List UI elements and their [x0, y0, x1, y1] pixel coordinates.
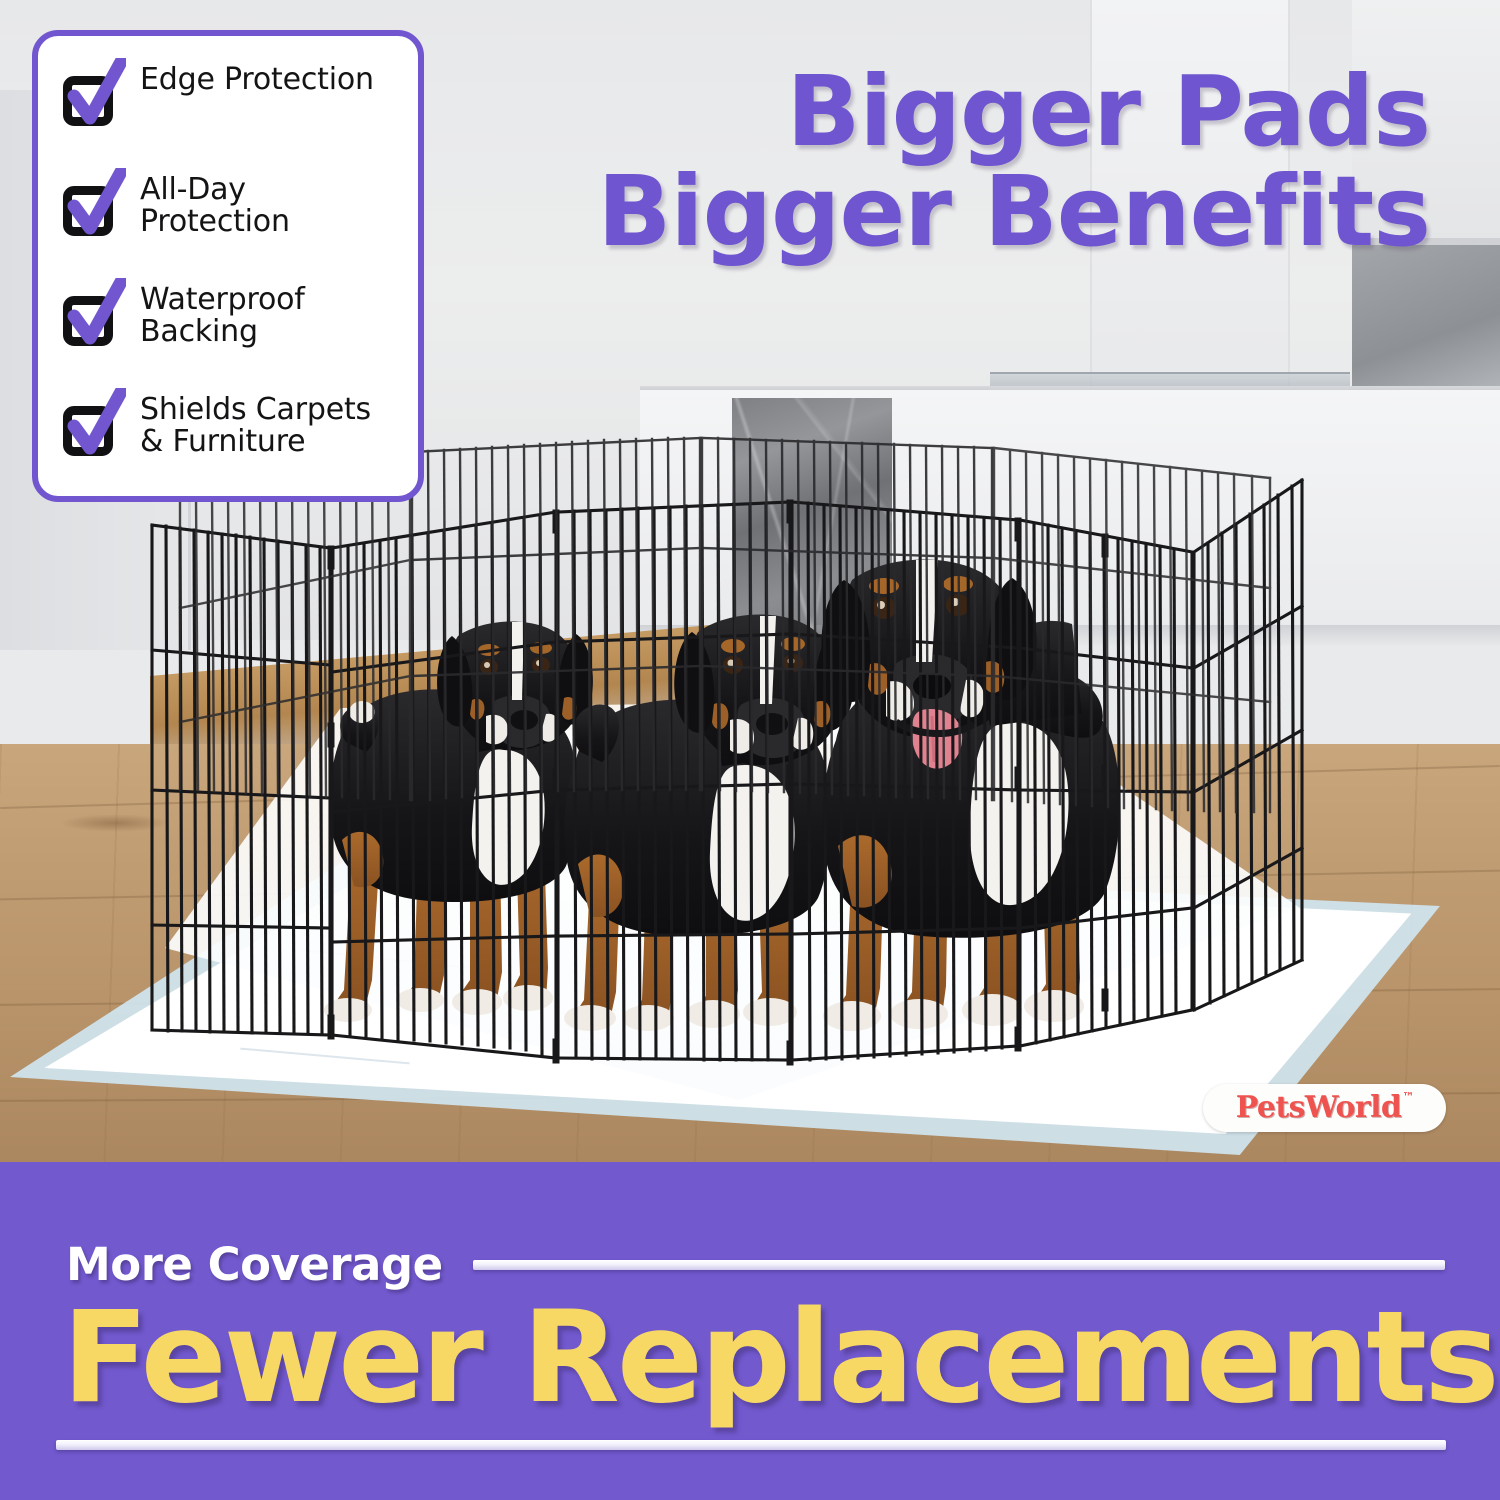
logo-text: PetsWorld	[1236, 1090, 1402, 1125]
checklist-item: Shields Carpets & Furniture	[60, 392, 400, 496]
trademark-symbol: ™	[1402, 1090, 1414, 1104]
headline-line-2: Bigger Benefits	[550, 162, 1430, 262]
checkbox-check-icon	[60, 288, 122, 350]
checklist-item: Waterproof Backing	[60, 282, 400, 378]
checklist-item-label: All-Day Protection	[140, 172, 400, 239]
checklist-item-label: Edge Protection	[140, 62, 374, 96]
petsworld-logo: PetsWorld™	[1203, 1084, 1446, 1132]
headline-line-1: Bigger Pads	[550, 62, 1430, 162]
checkbox-check-icon	[60, 178, 122, 240]
checkbox-check-icon	[60, 398, 122, 460]
checklist-item-label: Shields Carpets & Furniture	[140, 392, 400, 459]
banner-divider-top	[473, 1260, 1445, 1270]
checklist-item-label: Waterproof Backing	[140, 282, 400, 349]
checklist-item: All-Day Protection	[60, 172, 400, 268]
checklist-item: Edge Protection	[60, 62, 400, 158]
banner-divider-bottom	[56, 1440, 1446, 1450]
feature-checklist-card: Edge Protection All-Day Protection Water…	[32, 30, 424, 502]
main-headline: Bigger Pads Bigger Benefits	[550, 62, 1430, 262]
banner-headline: Fewer Replacements	[62, 1294, 1460, 1421]
checkbox-check-icon	[60, 68, 122, 130]
